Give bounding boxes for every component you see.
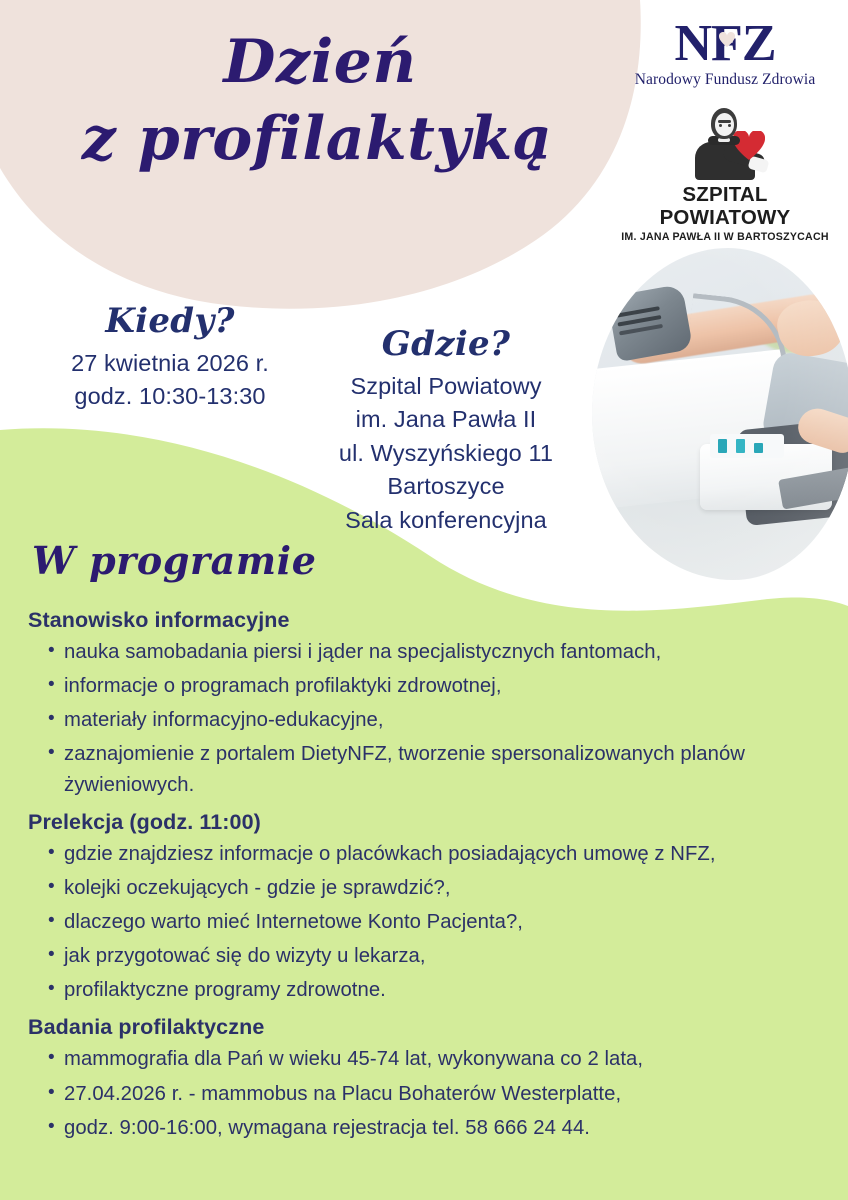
list-item: zaznajomienie z portalem DietyNFZ, tworz…	[28, 739, 828, 801]
when-block: Kiedy? 27 kwietnia 2026 r. godz. 10:30-1…	[20, 302, 320, 414]
nfz-logo: NFZ Narodowy Fundusz Zdrowia	[622, 18, 828, 89]
figure-eye	[719, 124, 722, 127]
heart-icon	[733, 131, 765, 161]
section-items: mammografia dla Pań w wieku 45-74 lat, w…	[28, 1044, 828, 1143]
pope-figure-icon	[677, 108, 773, 180]
where-line: Sala konferencyjna	[296, 504, 596, 537]
section-items: gdzie znajdziesz informacje o placówkach…	[28, 839, 828, 1006]
heart-icon	[719, 32, 735, 48]
hospital-name: SZPITAL POWIATOWY	[620, 184, 830, 229]
nfz-wordmark: NFZ	[675, 18, 776, 70]
where-heading: Gdzie?	[296, 325, 596, 364]
figure-brow	[718, 120, 731, 123]
section-title: Stanowisko informacyjne	[28, 608, 828, 633]
when-line: 27 kwietnia 2026 r.	[20, 347, 320, 380]
list-item: jak przygotować się do wizyty u lekarza,	[28, 941, 828, 972]
list-item: kolejki oczekujących - gdzie je sprawdzi…	[28, 873, 828, 904]
programme-body: Stanowisko informacyjne nauka samobadani…	[28, 608, 828, 1147]
nfz-subtitle: Narodowy Fundusz Zdrowia	[622, 71, 828, 89]
list-item: profilaktyczne programy zdrowotne.	[28, 975, 828, 1006]
when-heading: Kiedy?	[20, 302, 320, 341]
programme-heading: W programie	[32, 538, 316, 583]
hospital-subtitle: IM. JANA PAWŁA II W BARTOSZYCACH	[620, 231, 830, 243]
list-item: godz. 9:00-16:00, wymagana rejestracja t…	[28, 1113, 828, 1144]
list-item: dlaczego warto mieć Internetowe Konto Pa…	[28, 907, 828, 938]
list-item: materiały informacyjno-edukacyjne,	[28, 705, 828, 736]
section-items: nauka samobadania piersi i jąder na spec…	[28, 637, 828, 801]
where-line: Bartoszyce	[296, 470, 596, 503]
photo-scene	[592, 248, 848, 580]
where-line: Szpital Powiatowy	[296, 370, 596, 403]
where-line: im. Jana Pawła II	[296, 403, 596, 436]
where-block: Gdzie? Szpital Powiatowy im. Jana Pawła …	[296, 325, 596, 537]
hospital-logo: SZPITAL POWIATOWY IM. JANA PAWŁA II W BA…	[620, 108, 830, 243]
list-item: nauka samobadania piersi i jąder na spec…	[28, 637, 828, 668]
title-line-1: Dzień	[60, 24, 580, 101]
poster-title: Dzień z profilaktyką	[60, 24, 580, 178]
section-title: Prelekcja (godz. 11:00)	[28, 810, 828, 835]
list-item: mammografia dla Pań w wieku 45-74 lat, w…	[28, 1044, 828, 1075]
list-item: 27.04.2026 r. - mammobus na Placu Bohate…	[28, 1079, 828, 1110]
poster-canvas: NFZ Narodowy Fundusz Zdrowia SZPITAL POW…	[0, 0, 848, 1200]
when-line: godz. 10:30-13:30	[20, 380, 320, 413]
figure-eye	[728, 124, 731, 127]
title-line-2: z profilaktyką	[54, 101, 580, 178]
where-line: ul. Wyszyńskiego 11	[296, 437, 596, 470]
photo-vignette	[592, 248, 848, 580]
section-title: Badania profilaktyczne	[28, 1015, 828, 1040]
blood-pressure-photo	[592, 248, 848, 580]
figure-face	[715, 113, 734, 136]
list-item: gdzie znajdziesz informacje o placówkach…	[28, 839, 828, 870]
list-item: informacje o programach profilaktyki zdr…	[28, 671, 828, 702]
